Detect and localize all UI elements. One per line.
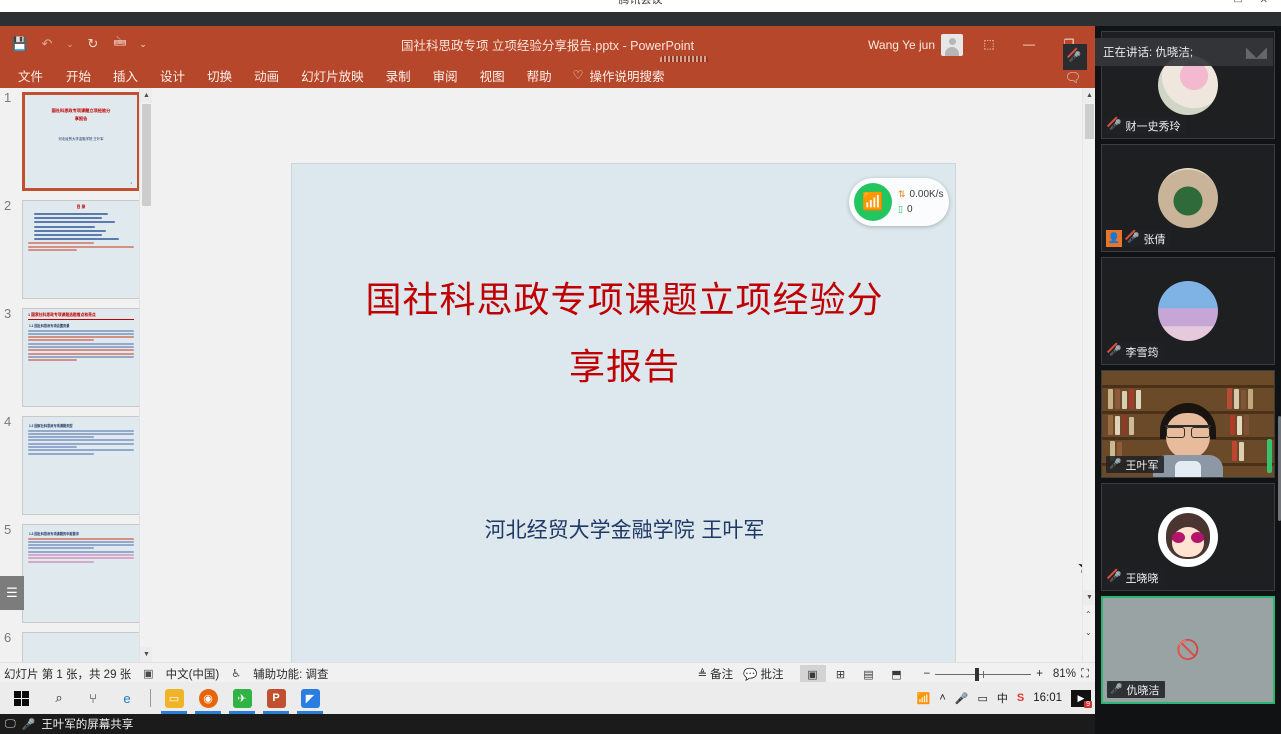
microphone-muted-icon: 🎤: [1109, 572, 1121, 583]
thumbnail-row[interactable]: 2 目 录: [0, 196, 152, 304]
slide-subtitle[interactable]: 河北经贸大学金融学院 王叶军: [328, 514, 921, 544]
powerpoint-status-bar: 幻灯片 第 1 张，共 29 张 ▣ 中文(中国) ♿ 辅助功能: 调查 ≜ 备…: [0, 662, 1095, 682]
powerpoint-app[interactable]: P: [259, 682, 293, 714]
comments-label: 批注: [761, 666, 784, 682]
reading-view-button[interactable]: ▤: [856, 665, 882, 682]
meeting-dark-strip: [0, 12, 1281, 26]
comment-icon: 💬: [743, 667, 757, 681]
powerpoint-body: 1 国社科思政专项课题立项经验分 享报告 河北经贸大学金融学院 王叶军 1 2: [0, 88, 1095, 662]
outline-pane-toggle-icon[interactable]: ☰: [0, 576, 24, 610]
participant-tile[interactable]: 👤 🎤 张倩: [1101, 144, 1275, 252]
network-stats: ⇅ 0.00K/s ▯ 0: [898, 187, 943, 217]
sunglasses-icon: [1172, 532, 1204, 543]
zoom-out-button[interactable]: −: [924, 668, 931, 680]
zoom-control[interactable]: − + 81% ⛶: [924, 668, 1090, 681]
wifi-icon: [854, 183, 892, 221]
tell-me-label: 操作说明搜索: [589, 66, 664, 85]
participant-name-chip: 🎤 王叶军: [1106, 456, 1164, 473]
start-button[interactable]: [0, 682, 42, 714]
lightbulb-icon: ♡: [573, 68, 584, 82]
slideshow-view-button[interactable]: ⬒: [884, 665, 910, 682]
thumbnail-row[interactable]: 3 1 国家社科思政专项课题选题看点和亮点 1.1 国社科思政专项设置背景: [0, 304, 152, 412]
system-tray: 📶 ˄ 🎤 ▭ 中 S 16:01 ▶ 9: [917, 682, 1091, 714]
account-area[interactable]: Wang Ye jun: [868, 34, 963, 56]
chevron-up-tray-icon[interactable]: ˄: [939, 692, 945, 704]
notes-icon: ≜: [698, 667, 708, 681]
notes-label: 备注: [710, 666, 733, 682]
avatar-image: [1158, 281, 1218, 341]
scrollbar-thumb[interactable]: [1085, 104, 1094, 139]
avatar[interactable]: [941, 34, 963, 56]
zoom-level-label[interactable]: 81%: [1048, 668, 1076, 680]
slide-number: 3: [4, 306, 11, 321]
thumbnail-scrollbar[interactable]: ▲ ▼: [139, 88, 152, 662]
participant-tile[interactable]: 🚫 🎤 仇晓洁: [1101, 596, 1275, 704]
slide-scrollbar[interactable]: ▲ ▼ ⌃ ⌄: [1082, 88, 1095, 662]
view-buttons: ▣ ⊞ ▤ ⬒: [800, 665, 910, 682]
thumb-heading: 1 国家社科思政专项课题选题看点和亮点: [28, 313, 134, 320]
meeting-icon: ◤: [301, 689, 320, 708]
thumb-page-number: 1: [130, 181, 132, 185]
microphone-muted-icon: 🎤: [1109, 346, 1121, 357]
participant-name-chip: 🎤 王晓晓: [1106, 569, 1164, 586]
folder-icon: ▭: [165, 689, 184, 708]
slide-thumbnail-6[interactable]: [22, 632, 140, 662]
zoom-in-button[interactable]: +: [1036, 668, 1043, 680]
thumb-title-text-2: 享报告: [25, 115, 137, 122]
slide-counter: 幻灯片 第 1 张，共 29 张: [4, 666, 131, 682]
volume-level-indicator: [1267, 439, 1272, 473]
tencent-meeting-app[interactable]: ◤: [293, 682, 327, 714]
notes-button[interactable]: ≜ 备注: [698, 666, 734, 682]
wechat-app[interactable]: ✈: [225, 682, 259, 714]
slide-title[interactable]: 国社科思政专项课题立项经验分 享报告: [328, 267, 921, 401]
thumb-subheading: 1.3 国社科思政专项课题的申报要求: [29, 531, 134, 536]
accessibility-icon: ♿: [231, 667, 241, 680]
meeting-app-title: 腾讯会议: [0, 0, 1281, 5]
avatar-image: [1158, 507, 1218, 567]
slide-thumbnail-pane[interactable]: 1 国社科思政专项课题立项经验分 享报告 河北经贸大学金融学院 王叶军 1 2: [0, 88, 152, 662]
slide-title-line-1: 国社科思政专项课题立项经验分: [328, 267, 921, 334]
upload-icon: ⇅: [898, 187, 906, 202]
tab-design[interactable]: 设计: [149, 63, 196, 88]
active-speaker-label: 正在讲话: 仇晓洁;: [1103, 44, 1193, 60]
tab-review[interactable]: 审阅: [422, 63, 469, 88]
firefox-icon: ◉: [199, 689, 218, 708]
search-icon[interactable]: ⌕: [42, 682, 76, 714]
tab-file[interactable]: 文件: [8, 63, 55, 88]
firefox-app[interactable]: ◉: [191, 682, 225, 714]
ime-tray-icon[interactable]: 中: [997, 690, 1008, 706]
share-bar-label: 王叶军的屏幕共享: [41, 716, 133, 732]
slide-thumbnail-3[interactable]: 1 国家社科思政专项课题选题看点和亮点 1.1 国社科思政专项设置背景: [22, 308, 140, 407]
screen-share-bar: 🖵 🎤 王叶军的屏幕共享: [0, 714, 1095, 734]
thumbnail-row[interactable]: 5 1.3 国社科思政专项课题的申报要求: [0, 520, 152, 628]
microphone-tray-icon[interactable]: 🎤: [955, 692, 969, 705]
screen: 腾讯会议 ▭ ✕ 💾 ↶ ⌄ ↻ 🖮 ⌄ 国社科思政专项 立项经验分享报告.pp…: [0, 0, 1281, 734]
participant-name-chip: 🎤 李雪筠: [1106, 343, 1164, 360]
thumb-subheading: 1.1 国社科思政专项设置背景: [29, 323, 134, 328]
participant-tile[interactable]: 🎤 王叶军: [1101, 370, 1275, 478]
ribbon-tab-bar: 文件 开始 插入 设计 切换 动画 幻灯片放映 录制 审阅 视图 帮助 ♡ 操作…: [0, 62, 1095, 88]
previous-slide-icon[interactable]: ⌃: [1085, 610, 1092, 619]
tab-view[interactable]: 视图: [469, 63, 516, 88]
thumb-bullets: [28, 213, 134, 251]
slide-number: 6: [4, 630, 11, 645]
participant-name: 财一史秀玲: [1125, 118, 1180, 134]
microphone-muted-icon: 🎤: [1127, 233, 1139, 244]
tab-animations[interactable]: 动画: [243, 63, 290, 88]
host-badge-icon: 👤: [1106, 230, 1122, 247]
scroll-up-icon[interactable]: ▲: [140, 88, 152, 103]
chat-bubble-icon[interactable]: 🗨: [1060, 70, 1086, 86]
slide-number: 2: [4, 198, 11, 213]
windows-logo-icon: [14, 691, 29, 706]
participant-name: 张倩: [1143, 231, 1165, 247]
thumb-heading: 目 录: [28, 205, 134, 210]
microphone-on-icon: 🎤: [1109, 459, 1121, 470]
wechat-icon: ✈: [233, 689, 252, 708]
participant-name-chip: 🎤 张倩: [1124, 230, 1171, 247]
next-slide-icon[interactable]: ⌄: [1085, 628, 1092, 637]
tab-home[interactable]: 开始: [55, 63, 102, 88]
windows-taskbar: ⌕ ⑂ e ▭ ◉ ✈ P ◤ 📶 ˄ 🎤 ▭ 中 S: [0, 682, 1095, 714]
active-speaker-banner: 正在讲话: 仇晓洁; ◣◢: [1095, 38, 1273, 66]
zoom-slider[interactable]: [935, 674, 1031, 675]
account-name: Wang Ye jun: [868, 38, 935, 52]
notification-count: 9: [1084, 701, 1092, 708]
wifi-tray-icon[interactable]: 📶: [917, 692, 931, 705]
slide-number: 5: [4, 522, 11, 537]
slide-editing-area[interactable]: 国社科思政专项课题立项经验分 享报告 河北经贸大学金融学院 王叶军 1 ⇅ 0.…: [152, 88, 1095, 662]
network-speed-value: 0.00K/s: [910, 187, 944, 202]
battery-icon: ▯: [898, 202, 903, 217]
zoom-slider-handle[interactable]: [975, 668, 979, 681]
sogou-tray-icon[interactable]: S: [1017, 692, 1024, 704]
powerpoint-icon: P: [267, 689, 286, 708]
accessibility-label[interactable]: 辅助功能: 调查: [253, 666, 328, 682]
slide-number: 1: [4, 90, 11, 105]
network-count-value: 0: [907, 202, 913, 217]
screen-share-icon: 🖵: [5, 718, 16, 731]
slide-thumbnail-5[interactable]: 1.3 国社科思政专项课题的申报要求: [22, 524, 140, 623]
minimize-window-button[interactable]: —: [1009, 32, 1049, 56]
tab-insert[interactable]: 插入: [102, 63, 149, 88]
normal-view-button[interactable]: ▣: [800, 665, 826, 682]
avatar-image: [1158, 168, 1218, 228]
current-slide[interactable]: 国社科思政专项课题立项经验分 享报告 河北经贸大学金融学院 王叶军 1 ⇅ 0.…: [291, 163, 956, 682]
scrollbar-thumb[interactable]: [142, 104, 151, 206]
microphone-muted-icon: 🎤: [1069, 52, 1081, 63]
slide-thumbnail-4[interactable]: 1.2 国家社科思政专项课题类型: [22, 416, 140, 515]
language-label[interactable]: 中文(中国): [166, 666, 220, 682]
tab-record[interactable]: 录制: [375, 63, 422, 88]
notification-center-icon[interactable]: ▶ 9: [1071, 690, 1091, 707]
slide-thumbnail-2[interactable]: 目 录: [22, 200, 140, 299]
tab-slideshow[interactable]: 幻灯片放映: [290, 63, 375, 88]
scroll-down-icon[interactable]: ▼: [1083, 590, 1095, 605]
thumb-subheading: 1.2 国家社科思政专项课题类型: [29, 423, 134, 428]
scroll-down-icon[interactable]: ▼: [140, 647, 152, 662]
ribbon-display-options-button[interactable]: ⬚: [969, 32, 1009, 56]
participant-rail[interactable]: 🎤 财一史秀玲 👤 🎤 张倩 🎤 李雪筠: [1095, 26, 1281, 734]
powerpoint-window: 💾 ↶ ⌄ ↻ 🖮 ⌄ 国社科思政专项 立项经验分享报告.pptx - Powe…: [0, 26, 1095, 682]
participant-name: 李雪筠: [1125, 344, 1158, 360]
zoom-slider-midpoint: [983, 671, 984, 678]
scroll-up-icon[interactable]: ▲: [1083, 88, 1095, 103]
thumbnail-row[interactable]: 1 国社科思政专项课题立项经验分 享报告 河北经贸大学金融学院 王叶军 1: [0, 88, 152, 196]
microphone-icon[interactable]: 🎤: [22, 718, 36, 731]
thumb-title-text: 国社科思政专项课题立项经验分: [25, 107, 137, 114]
slide-thumbnail-1[interactable]: 国社科思政专项课题立项经验分 享报告 河北经贸大学金融学院 王叶军 1: [22, 92, 140, 191]
camera-off-icon: 🚫: [1176, 638, 1200, 662]
slide-sorter-button[interactable]: ⊞: [828, 665, 854, 682]
participant-name: 王叶军: [1125, 457, 1158, 473]
slide-title-line-2: 享报告: [328, 334, 921, 401]
meeting-mute-indicator[interactable]: 🎤: [1063, 44, 1087, 70]
participant-tile[interactable]: 🎤 李雪筠: [1101, 257, 1275, 365]
tab-transitions[interactable]: 切换: [196, 63, 243, 88]
tell-me-search[interactable]: ♡ 操作说明搜索: [573, 66, 665, 85]
participant-name: 仇晓洁: [1126, 682, 1159, 698]
meeting-window-controls[interactable]: ▭ ✕: [1233, 0, 1275, 6]
taskbar-divider: [150, 689, 151, 707]
meeting-logo-icon: ◣◢: [1246, 43, 1265, 61]
participant-name: 王晓晓: [1125, 570, 1158, 586]
tab-help[interactable]: 帮助: [516, 63, 563, 88]
spell-check-icon[interactable]: ▣: [143, 667, 153, 680]
clock[interactable]: 16:01: [1033, 692, 1062, 704]
slide-number: 4: [4, 414, 11, 429]
cortana-icon[interactable]: ⑂: [76, 682, 110, 714]
participant-name-chip: 🎤 仇晓洁: [1107, 681, 1165, 698]
powerpoint-titlebar: 💾 ↶ ⌄ ↻ 🖮 ⌄ 国社科思政专项 立项经验分享报告.pptx - Powe…: [0, 26, 1095, 62]
thumbnail-row[interactable]: 4 1.2 国家社科思政专项课题类型: [0, 412, 152, 520]
microphone-muted-icon: 🎤: [1109, 120, 1121, 131]
fit-to-window-button[interactable]: ⛶: [1081, 668, 1089, 681]
battery-tray-icon[interactable]: ▭: [977, 692, 987, 705]
thumbnail-row[interactable]: 6: [0, 628, 152, 662]
microphone-on-icon: 🎤: [1110, 684, 1122, 695]
edge-icon[interactable]: e: [110, 682, 144, 714]
comments-button[interactable]: 💬 批注: [743, 666, 783, 682]
network-speed-widget[interactable]: ⇅ 0.00K/s ▯ 0: [849, 178, 949, 226]
participant-name-chip: 🎤 财一史秀玲: [1106, 117, 1186, 134]
thumb-subtitle-text: 河北经贸大学金融学院 王叶军: [25, 136, 137, 141]
file-explorer-app[interactable]: ▭: [157, 682, 191, 714]
participant-tile[interactable]: 🎤 王晓晓: [1101, 483, 1275, 591]
